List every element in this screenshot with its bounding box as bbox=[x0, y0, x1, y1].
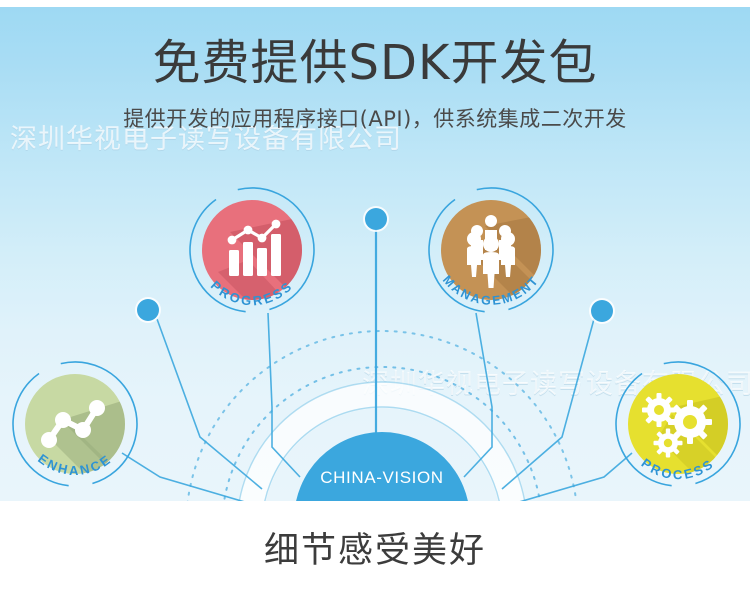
badge-management-graphic: MANAGEMENT bbox=[427, 186, 555, 338]
page-subtitle: 提供开发的应用程序接口(API)，供系统集成二次开发 bbox=[0, 103, 750, 133]
badge-management[interactable]: MANAGEMENT bbox=[427, 186, 555, 338]
center-hub-label: CHINA-VISION bbox=[320, 468, 443, 488]
badge-process[interactable]: PROCESS bbox=[614, 360, 742, 501]
node-dot-right bbox=[589, 298, 615, 324]
page-title: 免费提供SDK开发包 bbox=[0, 37, 750, 91]
hero-panel: 深圳华视电子读写设备有限公司 深圳华视电子读写设备有限公司 免费提供SDK开发包… bbox=[0, 7, 750, 501]
caption-band: 细节感受美好 bbox=[0, 501, 750, 594]
page-root: 深圳华视电子读写设备有限公司 深圳华视电子读写设备有限公司 免费提供SDK开发包… bbox=[0, 0, 750, 594]
badge-enhance[interactable]: ENHANCE bbox=[11, 360, 139, 501]
node-dot-left bbox=[135, 297, 161, 323]
badge-progress[interactable]: PROGRESS bbox=[188, 186, 316, 338]
badge-enhance-graphic: ENHANCE bbox=[11, 360, 139, 501]
node-dot-top bbox=[363, 206, 389, 232]
badge-progress-graphic: PROGRESS bbox=[188, 186, 316, 338]
headline-block: 免费提供SDK开发包 提供开发的应用程序接口(API)，供系统集成二次开发 bbox=[0, 37, 750, 133]
badge-process-graphic: PROCESS bbox=[614, 360, 742, 501]
top-white-strip bbox=[0, 0, 750, 7]
footer-caption: 细节感受美好 bbox=[264, 522, 486, 573]
